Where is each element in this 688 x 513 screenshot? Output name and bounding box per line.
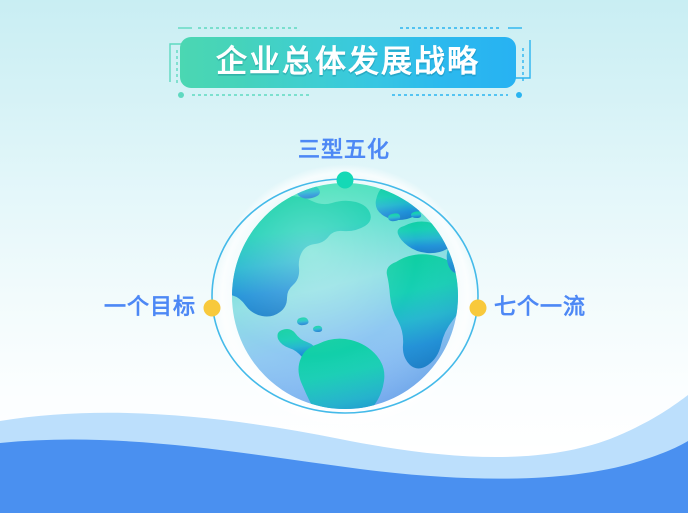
title-banner: 企业总体发展战略: [160, 20, 540, 102]
node-label-left: 一个目标: [0, 296, 196, 318]
corner-dot-left: [178, 92, 184, 98]
wave-decoration: [0, 373, 688, 513]
orbit-node-dot-left[interactable]: [204, 300, 221, 317]
corner-dot-right: [516, 92, 522, 98]
node-label-top: 三型五化: [0, 139, 688, 161]
banner-pill: 企业总体发展战略: [180, 37, 516, 88]
node-label-right: 七个一流: [494, 296, 684, 318]
slide-canvas: 三型五化 一个目标 七个一流 企业总体发展战略: [0, 0, 688, 513]
orbit-node-dot-right[interactable]: [470, 300, 487, 317]
page-title: 企业总体发展战略: [216, 46, 480, 79]
orbit-node-dot-top[interactable]: [337, 172, 354, 189]
